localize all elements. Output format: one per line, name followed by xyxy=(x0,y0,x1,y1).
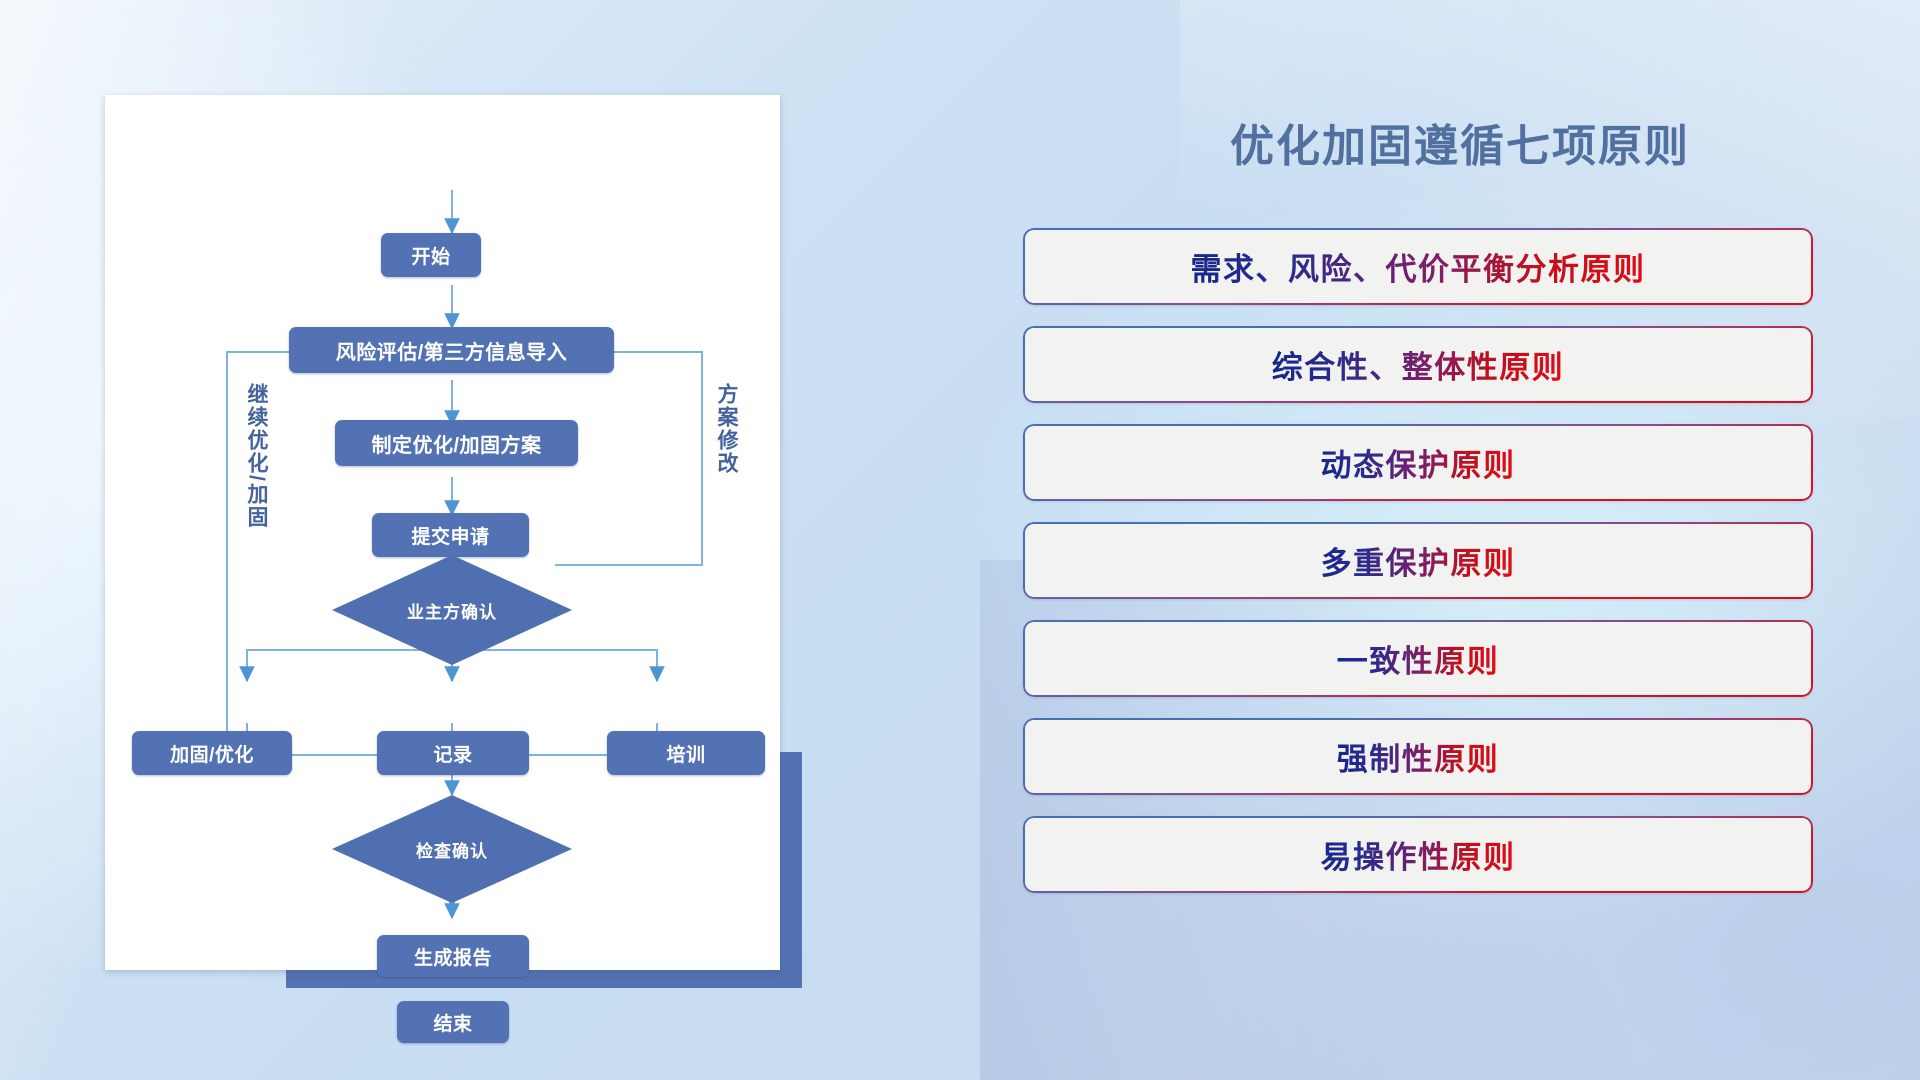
flowchart-card-shadow-horizontal xyxy=(286,968,802,988)
flow-node-plan-label: 制定优化/加固方案 xyxy=(371,429,541,458)
flow-node-start-label: 开始 xyxy=(411,242,450,269)
flow-node-submit[interactable]: 提交申请 xyxy=(372,513,529,557)
principle-item[interactable]: 一致性原则 xyxy=(1023,620,1813,697)
flow-node-owner-confirm[interactable]: 业主方确认 xyxy=(332,555,572,665)
flow-node-generate-report[interactable]: 生成报告 xyxy=(377,935,529,977)
flow-node-risk-assessment-label: 风险评估/第三方信息导入 xyxy=(336,336,568,365)
principle-item[interactable]: 综合性、整体性原则 xyxy=(1023,326,1813,403)
panel-title: 优化加固遵循七项原则 xyxy=(1000,110,1920,174)
principle-item[interactable]: 需求、风险、代价平衡分析原则 xyxy=(1023,228,1813,305)
principle-label: 综合性、整体性原则 xyxy=(1272,342,1565,387)
flow-node-record[interactable]: 记录 xyxy=(377,731,529,775)
flow-node-start[interactable]: 开始 xyxy=(381,233,481,277)
flow-edge-label-continue-optimize: 继续优化/加固 xyxy=(241,383,271,558)
principle-item[interactable]: 多重保护原则 xyxy=(1023,522,1813,599)
flow-node-submit-label: 提交申请 xyxy=(411,522,489,549)
principles-panel: 优化加固遵循七项原则 需求、风险、代价平衡分析原则 综合性、整体性原则 动态保护… xyxy=(1000,0,1920,1080)
principle-item[interactable]: 动态保护原则 xyxy=(1023,424,1813,501)
flow-node-owner-confirm-label: 业主方确认 xyxy=(332,555,572,665)
flow-node-end[interactable]: 结束 xyxy=(397,1001,509,1043)
flow-node-reinforce[interactable]: 加固/优化 xyxy=(132,731,292,775)
principles-list: 需求、风险、代价平衡分析原则 综合性、整体性原则 动态保护原则 多重保护原则 一… xyxy=(1023,228,1813,914)
principle-label: 易操作性原则 xyxy=(1321,832,1516,877)
flow-node-record-label: 记录 xyxy=(433,740,472,767)
flow-node-end-label: 结束 xyxy=(433,1009,472,1036)
principle-label: 多重保护原则 xyxy=(1321,538,1516,583)
principle-label: 需求、风险、代价平衡分析原则 xyxy=(1191,244,1646,289)
principle-label: 一致性原则 xyxy=(1337,636,1500,681)
flow-node-reinforce-label: 加固/优化 xyxy=(170,740,254,767)
principle-label: 强制性原则 xyxy=(1337,734,1500,779)
principle-item[interactable]: 易操作性原则 xyxy=(1023,816,1813,893)
flowchart-card: 开始 风险评估/第三方信息导入 制定优化/加固方案 提交申请 业主方确认 加固/… xyxy=(105,95,780,970)
principle-label: 动态保护原则 xyxy=(1321,440,1516,485)
flow-node-risk-assessment[interactable]: 风险评估/第三方信息导入 xyxy=(289,327,614,373)
flow-edge-label-plan-revision: 方案修改 xyxy=(711,383,741,508)
flow-node-training[interactable]: 培训 xyxy=(607,731,765,775)
flow-node-inspect-confirm[interactable]: 检查确认 xyxy=(332,795,572,903)
flow-node-generate-report-label: 生成报告 xyxy=(414,943,492,970)
flow-node-plan[interactable]: 制定优化/加固方案 xyxy=(335,420,578,466)
principle-item[interactable]: 强制性原则 xyxy=(1023,718,1813,795)
flow-node-inspect-confirm-label: 检查确认 xyxy=(332,795,572,903)
flow-node-training-label: 培训 xyxy=(666,740,705,767)
